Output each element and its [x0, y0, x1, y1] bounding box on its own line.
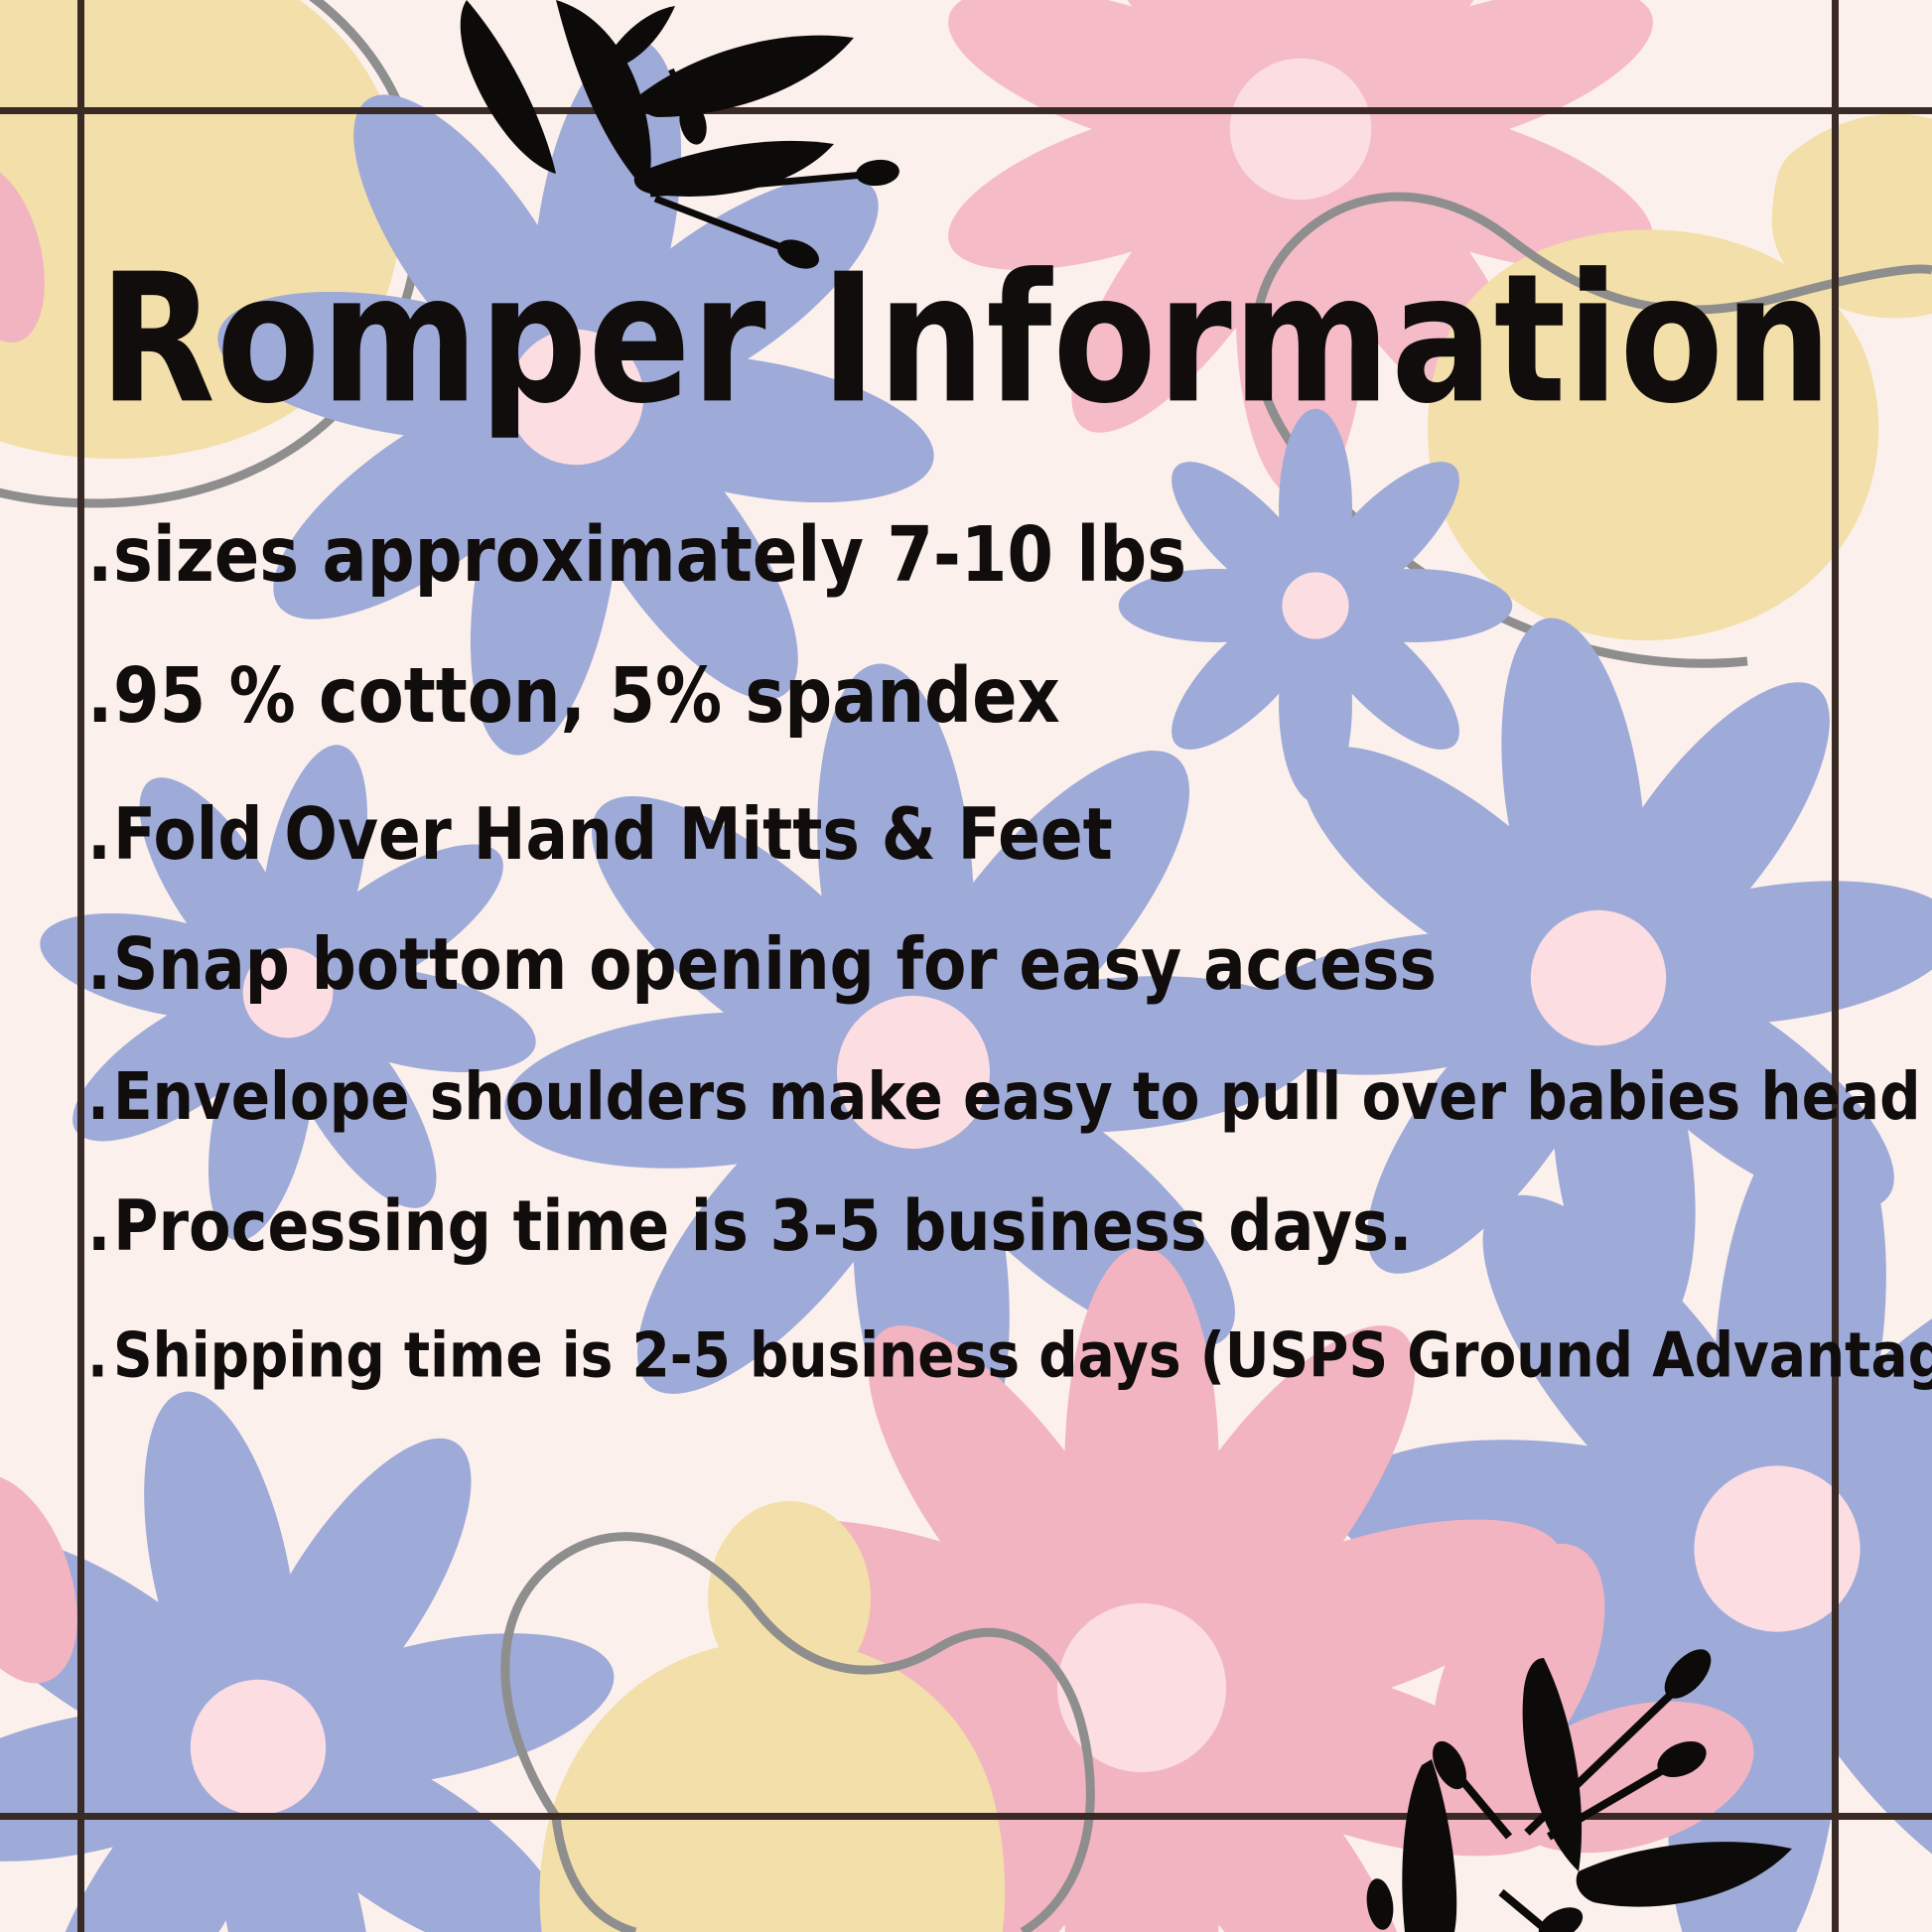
bullet-list: . sizes approximately 7-10 lbs . 95 % co…: [87, 516, 1872, 1387]
list-item: . 95 % cotton, 5% spandex: [87, 652, 1872, 741]
bullet-marker-icon: .: [87, 923, 113, 1006]
list-item: . Processing time is 3-5 business days.: [87, 1184, 1872, 1267]
list-item-label: Snap bottom opening for easy access: [113, 923, 1437, 1006]
list-item: . Fold Over Hand Mitts & Feet: [87, 793, 1872, 876]
list-item: . Envelope shoulders make easy to pull o…: [87, 1057, 1872, 1135]
bullet-marker-icon: .: [87, 1319, 113, 1392]
romper-information-poster: Romper Information . sizes approximately…: [0, 0, 1932, 1932]
list-item: . Snap bottom opening for easy access: [87, 923, 1872, 1006]
list-item-label: Envelope shoulders make easy to pull ove…: [113, 1057, 1921, 1135]
bullet-marker-icon: .: [87, 652, 113, 741]
list-item-label: sizes approximately 7-10 lbs: [113, 511, 1186, 600]
list-item-label: Shipping time is 2-5 business days (USPS…: [113, 1319, 1932, 1392]
bullet-marker-icon: .: [87, 511, 113, 600]
list-item-label: Processing time is 3-5 business days.: [113, 1184, 1412, 1267]
list-item: . Shipping time is 2-5 business days (US…: [87, 1319, 1872, 1392]
page-title: Romper Information: [0, 248, 1932, 430]
list-item-label: Fold Over Hand Mitts & Feet: [113, 793, 1113, 876]
poster-content: Romper Information . sizes approximately…: [0, 0, 1932, 1932]
bullet-marker-icon: .: [87, 1057, 113, 1135]
list-item-label: 95 % cotton, 5% spandex: [113, 652, 1060, 741]
bullet-marker-icon: .: [87, 1184, 113, 1267]
list-item: . sizes approximately 7-10 lbs: [87, 511, 1872, 600]
bullet-marker-icon: .: [87, 793, 113, 876]
